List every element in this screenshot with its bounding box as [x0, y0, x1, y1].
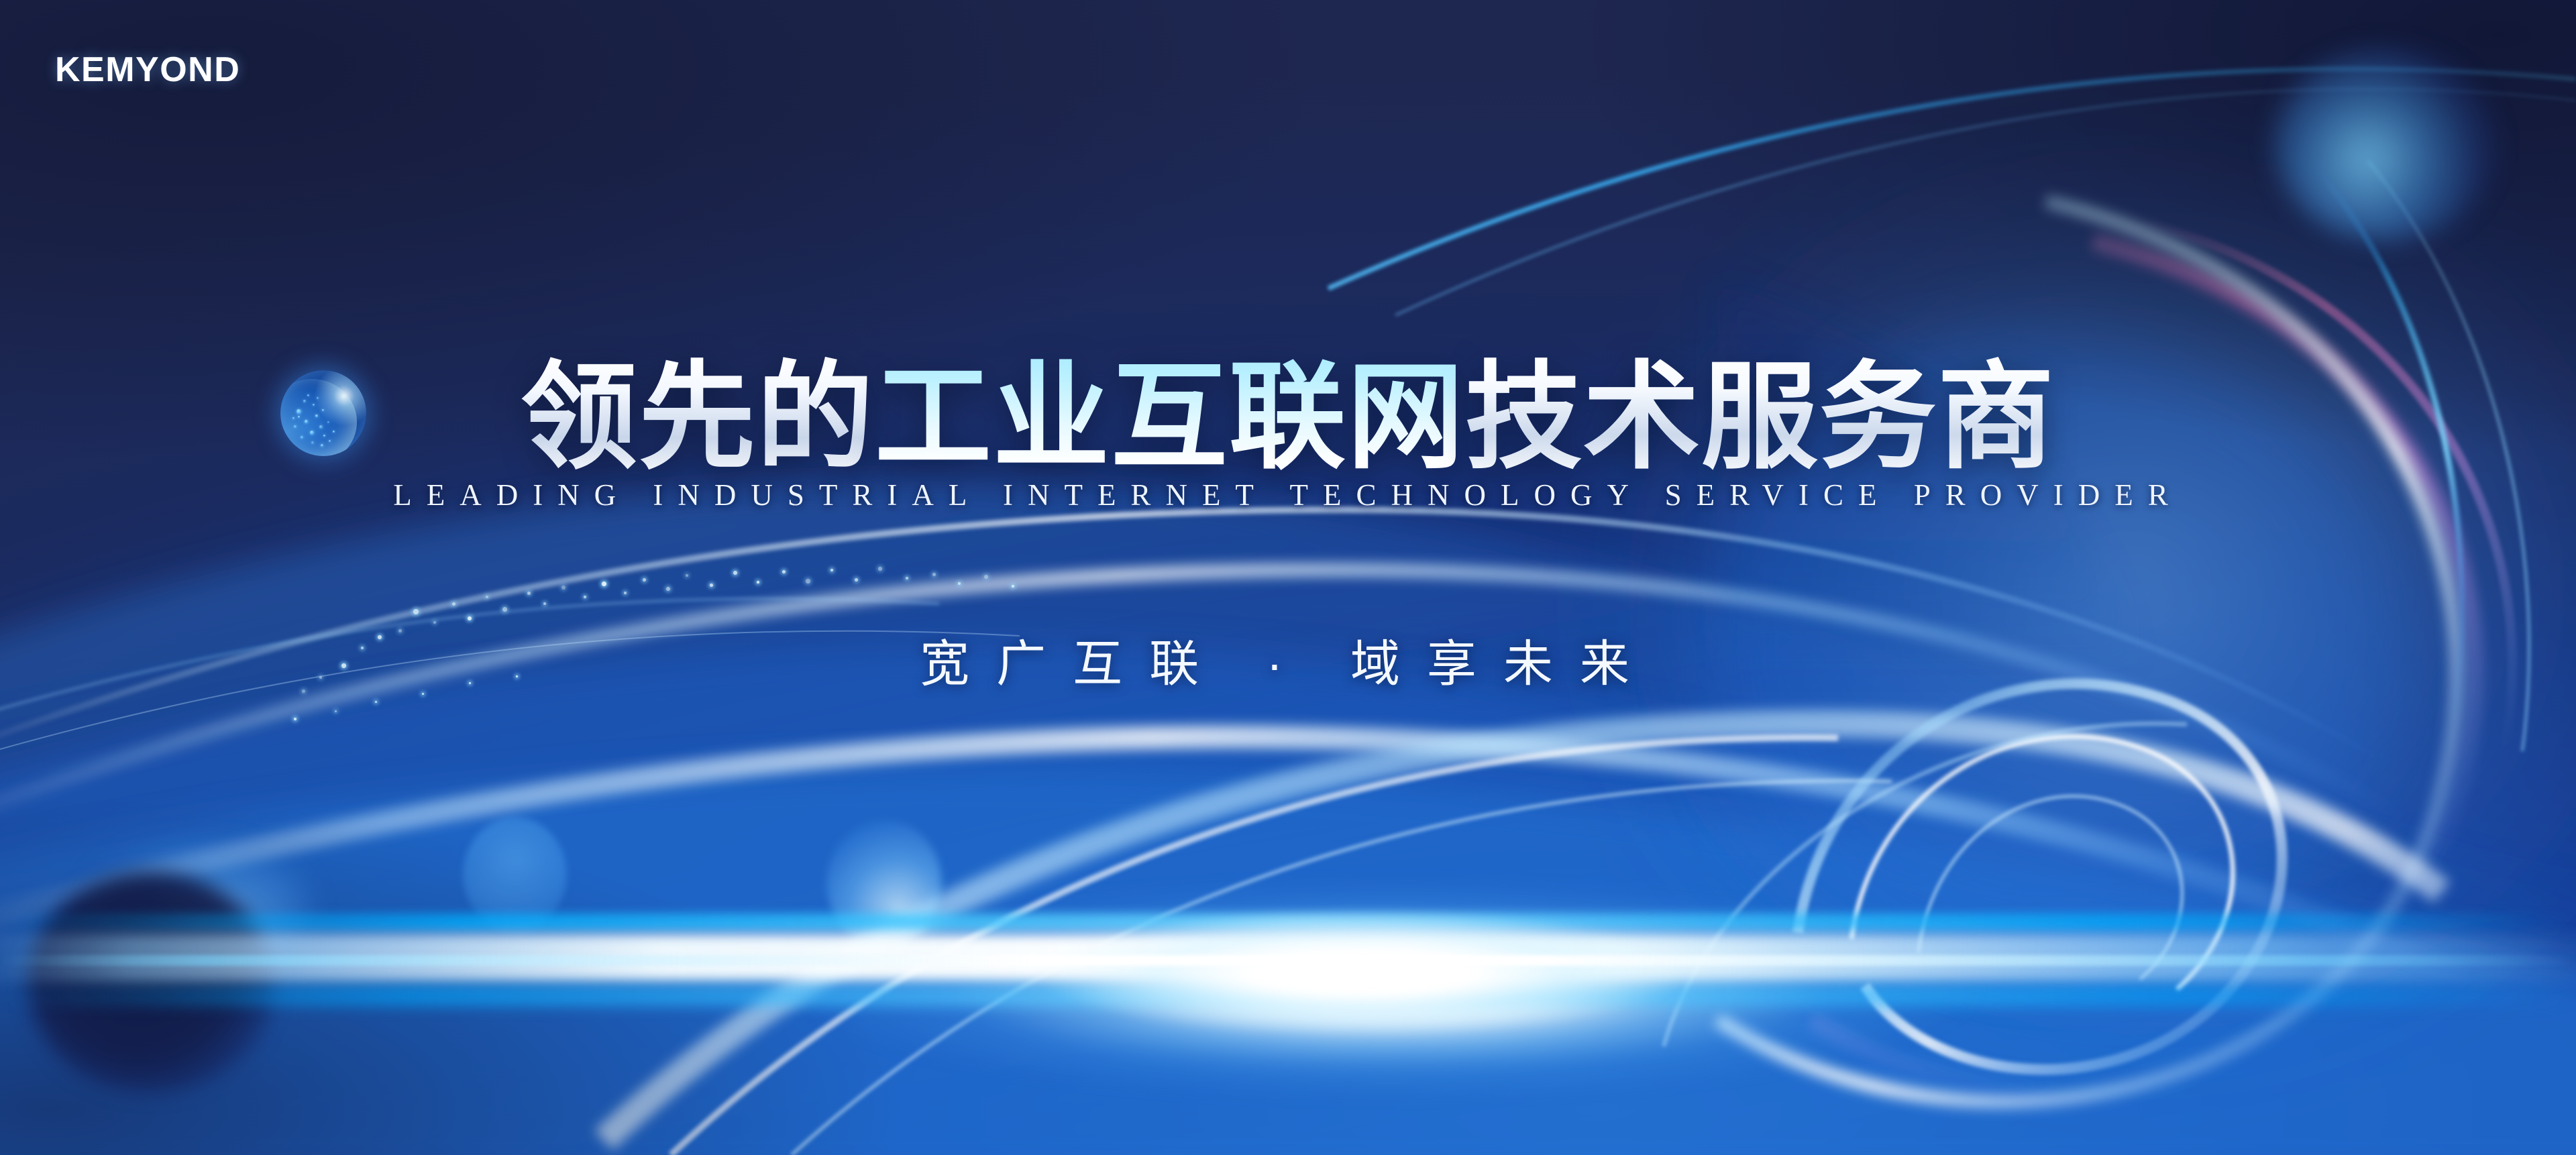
headline-segment-2: 工业互联网 — [875, 351, 1465, 482]
headline-segment-1: 领先的 — [521, 351, 875, 482]
hero-banner: KEMYOND 领先的工业互联网技术服务商 LEADING INDUSTRIAL… — [0, 0, 2576, 1155]
brand-logo[interactable]: KEMYOND — [55, 50, 240, 90]
tagline: 宽广互联 · 域享未来 — [0, 624, 2576, 696]
page-title: 领先的工业互联网技术服务商 — [0, 359, 2576, 476]
subtitle: LEADING INDUSTRIAL INTERNET TECHNOLOGY S… — [0, 478, 2576, 512]
headline-segment-3: 技术服务商 — [1465, 351, 2055, 482]
